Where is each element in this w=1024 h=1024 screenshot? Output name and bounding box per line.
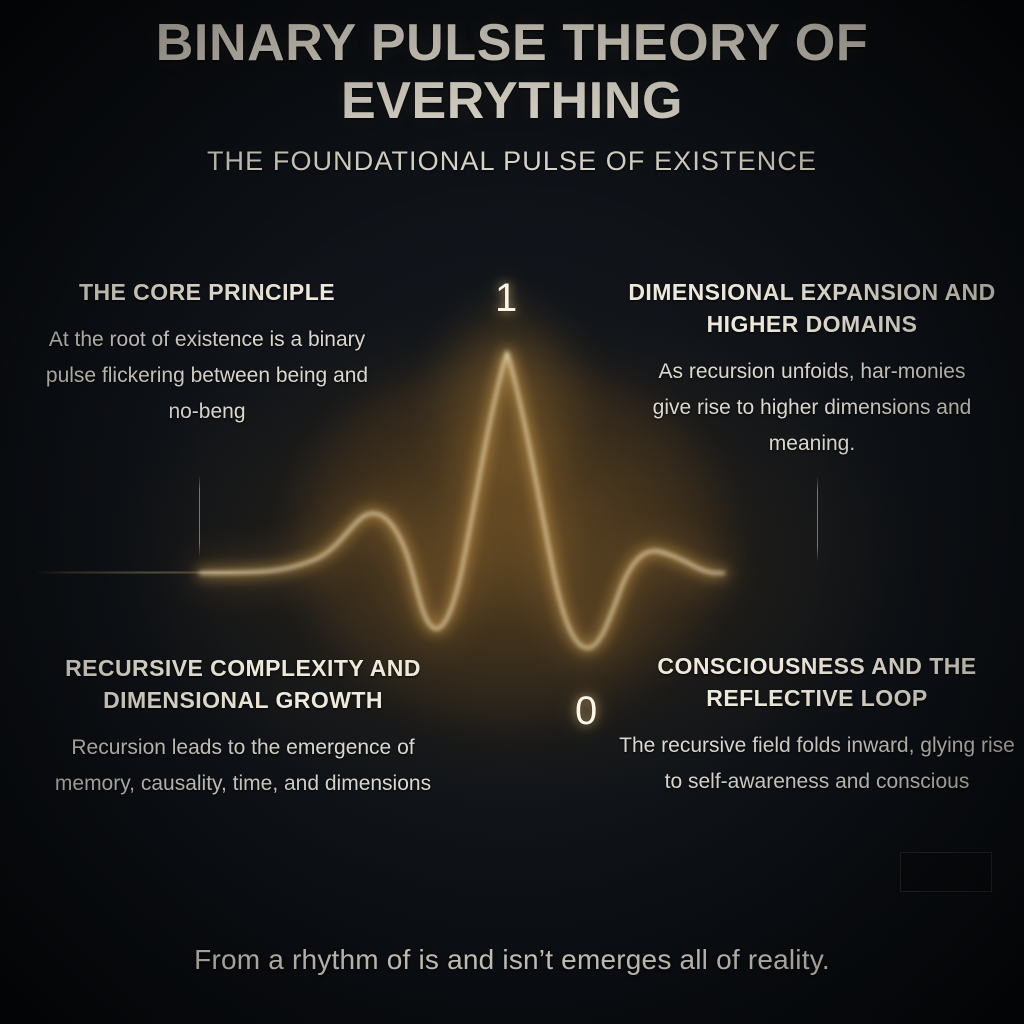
section-consciousness-loop: CONSCIOUSNESS AND THE REFLECTIVE LOOP Th… [618,650,1016,800]
bit-label-one: 1 [495,276,517,321]
section-recursive-complexity-body: Recursion leads to the emergence of memo… [38,730,448,802]
page-subtitle: THE FOUNDATIONAL PULSE OF EXISTENCE [0,146,1024,177]
bit-label-zero: 0 [575,689,597,734]
poster-header: BINARY PULSE THEORY OF EVERYTHING THE FO… [0,14,1024,177]
section-core-principle: THE CORE PRINCIPLE At the root of existe… [42,276,372,430]
section-dimensional-expansion-heading: DIMENSIONAL EXPANSION AND HIGHER DOMAINS [616,276,1008,340]
poster-footer-tagline: From a rhythm of is and isn’t emerges al… [0,944,1024,976]
section-recursive-complexity: RECURSIVE COMPLEXITY AND DIMENSIONAL GRO… [38,652,448,802]
section-consciousness-loop-heading: CONSCIOUSNESS AND THE REFLECTIVE LOOP [618,650,1016,714]
section-dimensional-expansion: DIMENSIONAL EXPANSION AND HIGHER DOMAINS… [616,276,1008,462]
poster-root: BINARY PULSE THEORY OF EVERYTHING THE FO… [0,0,1024,1024]
section-recursive-complexity-heading: RECURSIVE COMPLEXITY AND DIMENSIONAL GRO… [38,652,448,716]
section-core-principle-body: At the root of existence is a binary pul… [42,322,372,430]
section-core-principle-heading: THE CORE PRINCIPLE [42,276,372,308]
section-consciousness-loop-body: The recursive field folds inward, glying… [618,728,1016,800]
section-dimensional-expansion-body: As recursion unfoids, har-monies give ri… [616,354,1008,462]
page-title: BINARY PULSE THEORY OF EVERYTHING [132,14,892,130]
render-artifact-box [900,852,992,892]
